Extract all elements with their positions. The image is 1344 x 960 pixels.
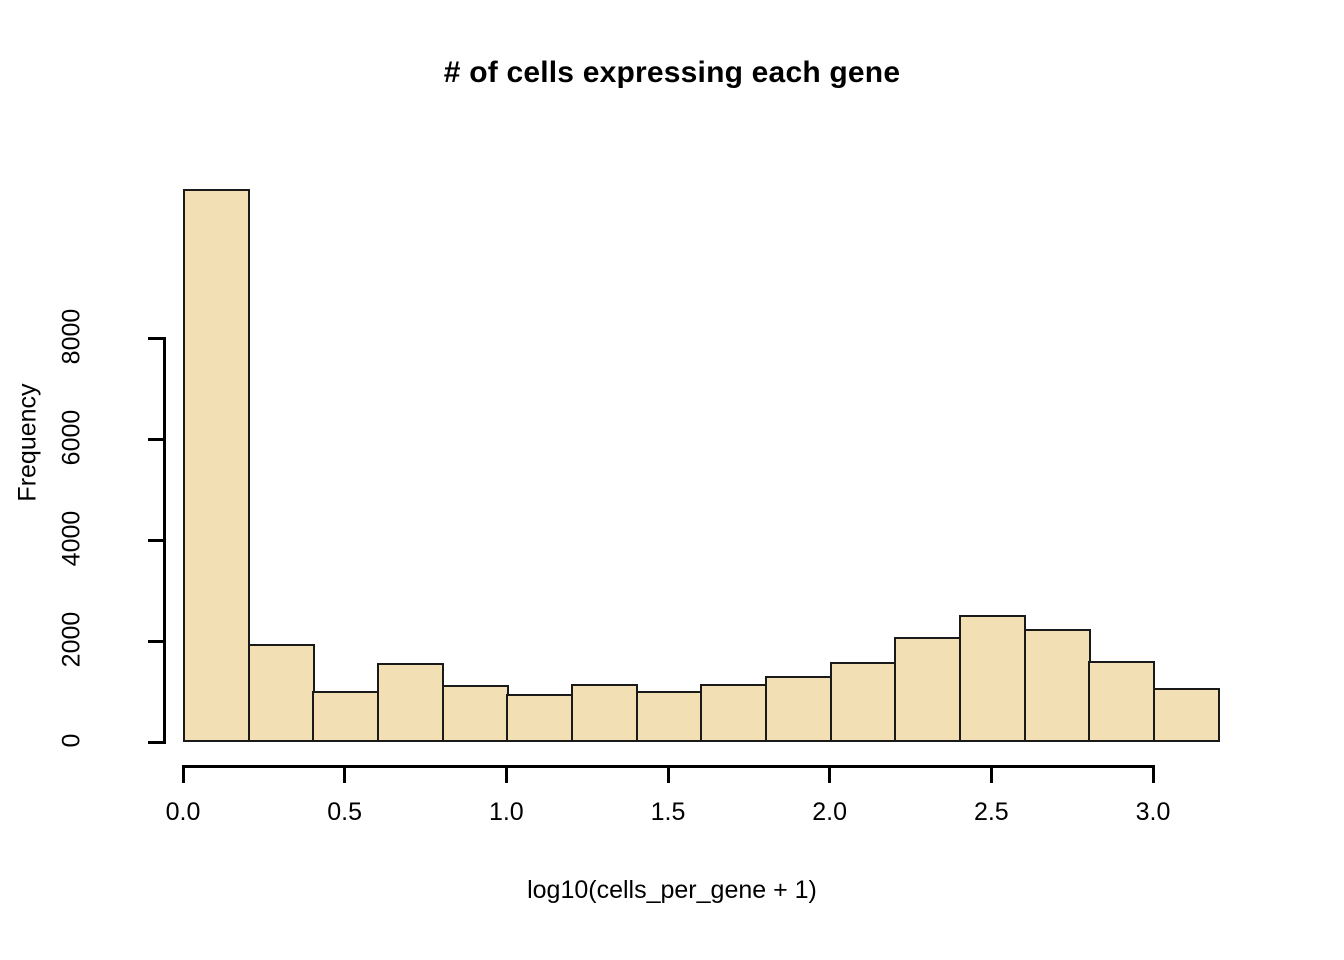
x-axis-tick xyxy=(505,765,508,783)
histogram-bar xyxy=(636,691,703,742)
x-axis-tick-label: 2.0 xyxy=(770,798,890,827)
y-axis-tick xyxy=(148,640,166,643)
histogram-bar xyxy=(830,662,897,742)
x-axis-tick-label: 0.0 xyxy=(123,798,243,827)
y-axis-tick xyxy=(148,539,166,542)
x-axis-label: log10(cells_per_gene + 1) xyxy=(0,876,1344,905)
histogram-bar xyxy=(765,676,832,742)
x-axis-tick xyxy=(343,765,346,783)
histogram-bar xyxy=(959,615,1026,742)
x-axis-tick-label: 1.5 xyxy=(608,798,728,827)
histogram-bar xyxy=(1153,688,1220,742)
histogram-bar xyxy=(312,691,379,742)
plot-area xyxy=(183,140,1153,742)
histogram-bar xyxy=(894,637,961,742)
y-axis-tick-label: 8000 xyxy=(58,277,87,397)
x-axis-tick xyxy=(990,765,993,783)
histogram-bar xyxy=(248,644,315,742)
y-axis-tick xyxy=(148,337,166,340)
y-axis-tick xyxy=(148,438,166,441)
histogram-bar xyxy=(571,684,638,742)
y-axis-tick xyxy=(148,741,166,744)
x-axis-tick xyxy=(182,765,185,783)
x-axis-tick xyxy=(667,765,670,783)
histogram-bar xyxy=(506,694,573,742)
histogram-bar xyxy=(183,189,250,742)
x-axis-tick-label: 0.5 xyxy=(285,798,405,827)
histogram-bar xyxy=(377,663,444,742)
histogram-bar xyxy=(442,685,509,742)
histogram-bar xyxy=(1024,629,1091,742)
histogram-bar xyxy=(700,684,767,742)
histogram-bar xyxy=(1088,661,1155,742)
x-axis-tick-label: 2.5 xyxy=(931,798,1051,827)
page-title: # of cells expressing each gene xyxy=(0,56,1344,90)
y-axis-label: Frequency xyxy=(14,353,43,533)
x-axis-tick-label: 3.0 xyxy=(1093,798,1213,827)
histogram-plot: # of cells expressing each gene Frequenc… xyxy=(0,0,1344,960)
x-axis-tick xyxy=(828,765,831,783)
x-axis-tick-label: 1.0 xyxy=(446,798,566,827)
x-axis-tick xyxy=(1152,765,1155,783)
